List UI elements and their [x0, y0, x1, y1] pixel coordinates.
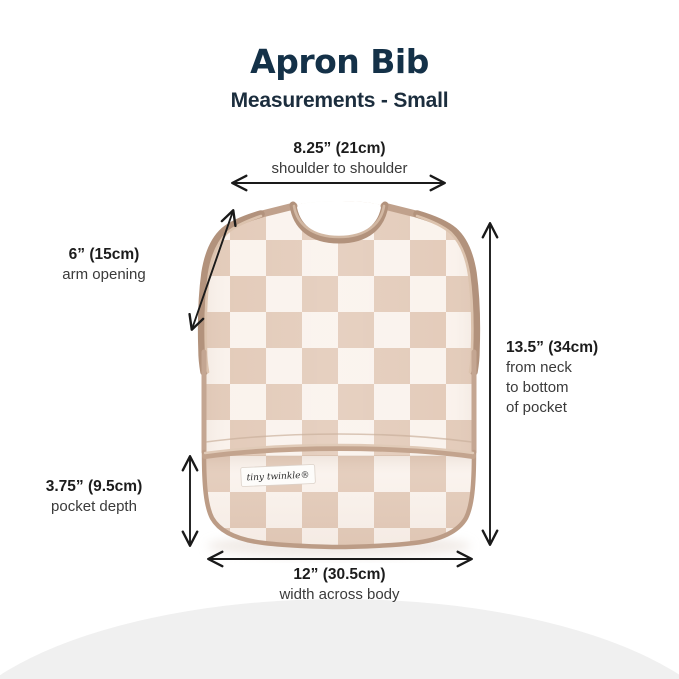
measurement-diagram-page: Apron Bib Measurements - Small — [0, 0, 679, 679]
measurement-description-line-2: to bottom — [506, 378, 671, 398]
measurement-description-line-1: from neck — [506, 358, 671, 378]
measurement-shoulder-to-shoulder: 8.25” (21cm) shoulder to shoulder — [0, 139, 679, 179]
measurement-description: arm opening — [16, 265, 192, 285]
measurement-description: shoulder to shoulder — [0, 159, 679, 179]
measurement-description-line-3: of pocket — [506, 398, 671, 418]
measurement-value: 13.5” (34cm) — [506, 338, 671, 358]
measurement-value: 3.75” (9.5cm) — [8, 477, 180, 497]
header-block: Apron Bib Measurements - Small — [0, 44, 679, 113]
measurement-description: width across body — [0, 585, 679, 605]
brand-label: tiny twinkle® — [241, 464, 316, 486]
measurement-description: pocket depth — [8, 497, 180, 517]
page-subtitle: Measurements - Small — [0, 89, 679, 113]
measurement-neck-to-pocket: 13.5” (34cm) from neck to bottom of pock… — [506, 338, 671, 418]
page-title: Apron Bib — [0, 44, 679, 80]
measurement-pocket-depth: 3.75” (9.5cm) pocket depth — [8, 477, 180, 517]
measurement-value: 12” (30.5cm) — [0, 565, 679, 585]
measurement-value: 6” (15cm) — [16, 245, 192, 265]
measurement-arm-opening: 6” (15cm) arm opening — [16, 245, 192, 285]
measurement-value: 8.25” (21cm) — [0, 139, 679, 159]
measurement-body-width: 12” (30.5cm) width across body — [0, 565, 679, 605]
